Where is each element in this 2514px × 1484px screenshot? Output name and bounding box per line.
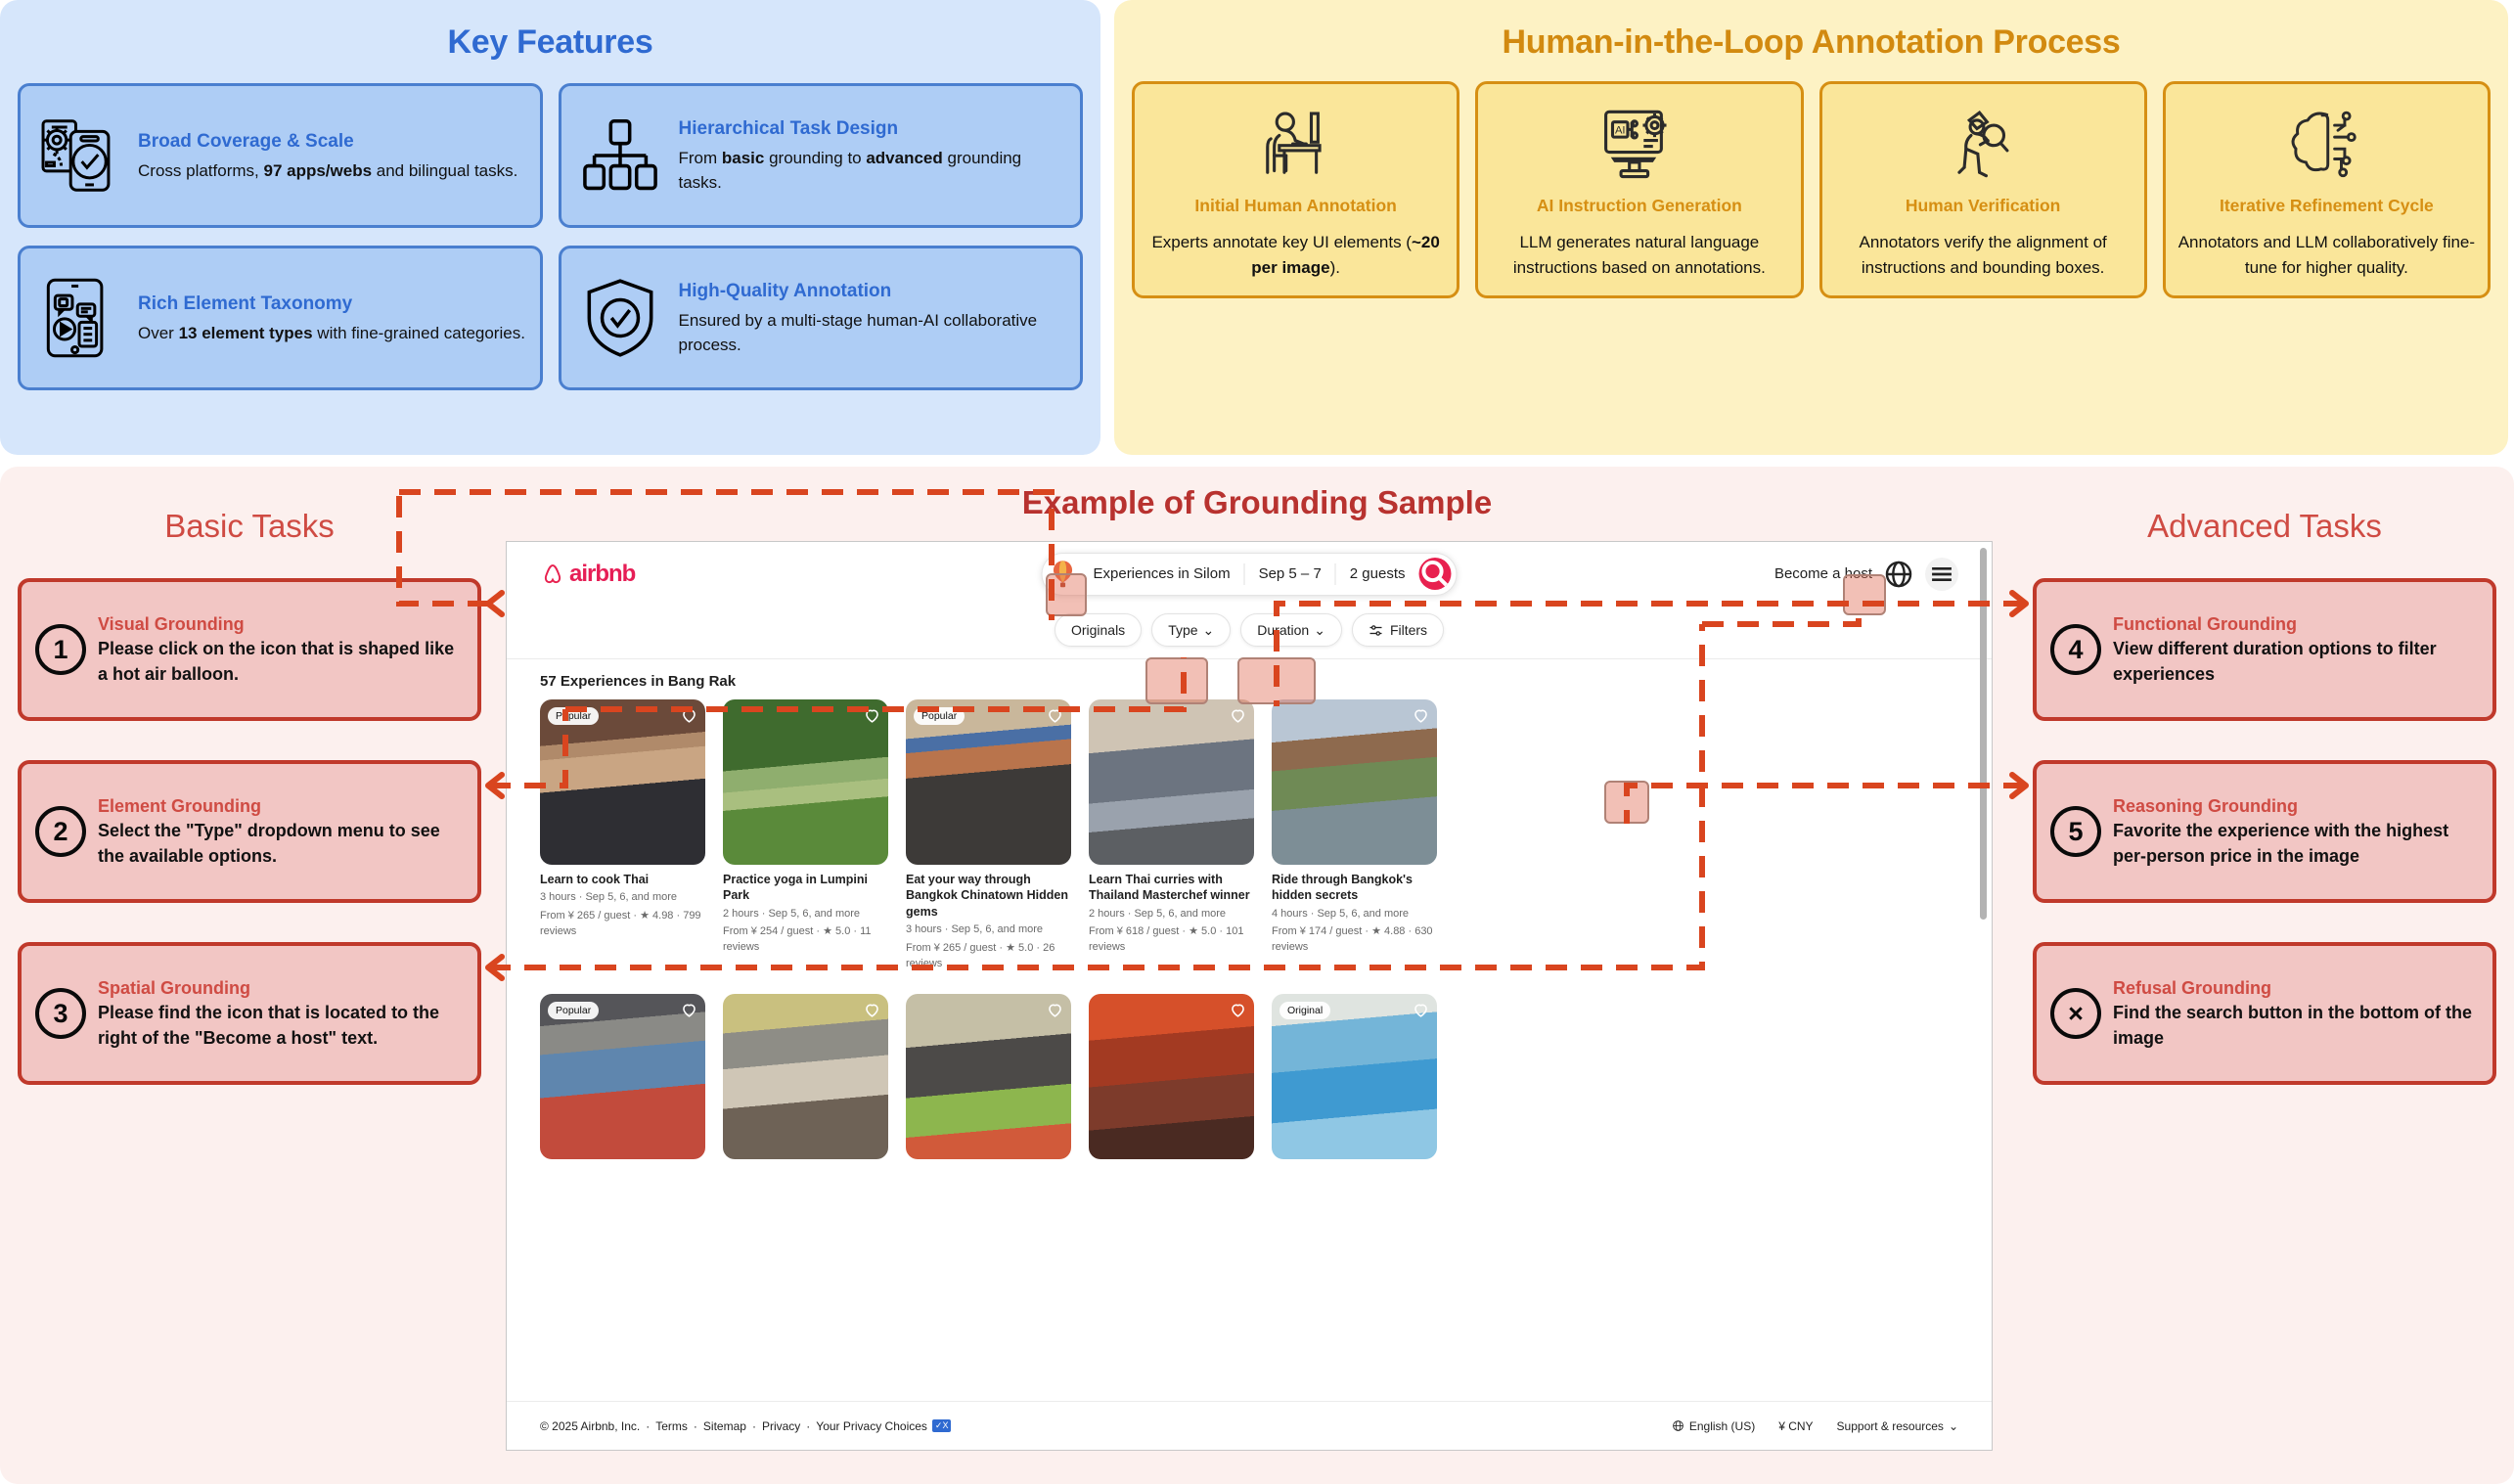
chip-label: Originals	[1071, 622, 1125, 638]
globe-icon	[1672, 1419, 1684, 1432]
footer-currency-selector[interactable]: ¥ CNY	[1778, 1419, 1813, 1433]
mobile-gear-check-icon	[34, 111, 124, 201]
feature-body-2: and bilingual tasks.	[372, 161, 517, 180]
task-card-refusal-grounding[interactable]: × Refusal Grounding Find the search butt…	[2033, 942, 2496, 1085]
feature-body-1: Cross platforms,	[138, 161, 263, 180]
listing-meta-1: 4 hours · Sep 5, 6, and more	[1272, 907, 1437, 922]
ai-monitor-gear-icon: AI	[1597, 100, 1682, 188]
chevron-down-icon: ⌄	[1949, 1419, 1958, 1433]
task-number-badge: 1	[35, 624, 86, 675]
listing-meta-1: 2 hours · Sep 5, 6, and more	[723, 907, 888, 922]
listing-meta-1: 3 hours · Sep 5, 6, and more	[906, 922, 1071, 938]
task-card-visual-grounding[interactable]: 1 Visual Grounding Please click on the i…	[18, 578, 481, 721]
listing-card[interactable]: Ride through Bangkok's hidden secrets 4 …	[1272, 699, 1437, 972]
task-number-badge: 5	[2050, 806, 2101, 857]
listing-meta-2: From ¥ 174 / guest · ★ 4.88 · 630 review…	[1272, 924, 1437, 956]
search-bar[interactable]: Experiences in Silom Sep 5 – 7 2 guests	[1042, 553, 1458, 596]
listing-photo[interactable]: Popular	[540, 699, 705, 865]
footer-copyright: © 2025 Airbnb, Inc.	[540, 1419, 640, 1433]
sliders-icon	[1369, 623, 1383, 638]
chip-originals[interactable]: Originals	[1055, 613, 1142, 647]
footer-language-selector[interactable]: English (US)	[1672, 1419, 1755, 1433]
feature-bold-1: basic	[722, 149, 764, 167]
footer-sep: ·	[806, 1419, 810, 1433]
heart-icon[interactable]	[863, 706, 881, 725]
airbnb-header: airbnb Experiences in Silom Sep 5 – 7 2 …	[507, 542, 1992, 606]
top-row: Key Features	[0, 0, 2514, 455]
listing-title: Practice yoga in Lumpini Park	[723, 872, 888, 904]
advanced-tasks-title: Advanced Tasks	[2015, 508, 2514, 545]
process-step-heading: AI Instruction Generation	[1537, 196, 1742, 216]
listing-meta-1: 3 hours · Sep 5, 6, and more	[540, 890, 705, 906]
footer-support-menu[interactable]: Support & resources ⌄	[1837, 1419, 1958, 1433]
footer-link-sitemap[interactable]: Sitemap	[703, 1419, 746, 1433]
listing-photo[interactable]: Original	[1272, 994, 1437, 1159]
heart-icon[interactable]	[1046, 1001, 1064, 1019]
footer-language-label: English (US)	[1689, 1419, 1755, 1433]
chip-filters[interactable]: Filters	[1352, 613, 1444, 647]
process-step-ai-instruction-generation: AI AI Instruction Generation LLM generat…	[1475, 81, 1803, 298]
feature-heading: Hierarchical Task Design	[679, 115, 1067, 144]
feature-card-text: Hierarchical Task Design From basic grou…	[679, 115, 1067, 196]
listing-title: Learn Thai curries with Thailand Masterc…	[1089, 872, 1254, 904]
heart-icon[interactable]	[680, 706, 698, 725]
listing-meta-2: From ¥ 265 / guest · ★ 5.0 · 26 reviews	[906, 941, 1071, 972]
feature-heading: High-Quality Annotation	[679, 278, 1067, 306]
task-heading: Spatial Grounding	[98, 976, 464, 1002]
person-magnifier-icon	[1941, 100, 2025, 188]
listing-row-2: Popular	[507, 994, 1992, 1159]
task-heading: Functional Grounding	[2113, 612, 2479, 638]
listing-meta-2: From ¥ 254 / guest · ★ 5.0 · 11 reviews	[723, 924, 888, 956]
feature-bold-1: 97 apps/webs	[263, 161, 372, 180]
listing-photo[interactable]	[1089, 994, 1254, 1159]
footer-support-label: Support & resources	[1837, 1419, 1944, 1433]
listing-card[interactable]: Popular Eat your way through Bangkok Chi…	[906, 699, 1071, 972]
task-body: Please click on the icon that is shaped …	[98, 639, 454, 684]
task-heading: Refusal Grounding	[2113, 976, 2479, 1002]
feature-bold-2: advanced	[866, 149, 942, 167]
heart-icon[interactable]	[863, 1001, 881, 1019]
ui-elements-icon	[34, 273, 124, 363]
process-step-body: Experts annotate key UI elements (~20 pe…	[1145, 230, 1447, 282]
listing-card[interactable]: Practice yoga in Lumpini Park 2 hours · …	[723, 699, 888, 972]
footer-right: English (US) ¥ CNY Support & resources ⌄	[1672, 1419, 1958, 1433]
process-step-body: Annotators and LLM collaboratively fine-…	[2176, 230, 2478, 282]
feature-body-2: with fine-grained categories.	[313, 324, 525, 342]
listing-badge: Popular	[548, 707, 599, 725]
listing-title: Ride through Bangkok's hidden secrets	[1272, 872, 1437, 904]
airbnb-logo-text: airbnb	[569, 561, 635, 588]
process-step-body: LLM generates natural language instructi…	[1488, 230, 1790, 282]
search-guests-field[interactable]: 2 guests	[1336, 565, 1419, 582]
listing-photo[interactable]	[723, 699, 888, 865]
process-step-initial-human-annotation: Initial Human Annotation Experts annotat…	[1132, 81, 1459, 298]
listing-card[interactable]	[906, 994, 1071, 1159]
listing-badge: Popular	[548, 1002, 599, 1019]
shield-check-icon	[575, 273, 665, 363]
highlight-globe-icon	[1843, 574, 1886, 615]
search-dates-field[interactable]: Sep 5 – 7	[1245, 565, 1335, 582]
highlight-duration-chip	[1237, 657, 1316, 704]
feature-card-high-quality: High-Quality Annotation Ensured by a mul…	[559, 246, 1084, 390]
task-card-text: Spatial Grounding Please find the icon t…	[98, 976, 464, 1052]
feature-body-1: Ensured by a multi-stage human-AI collab…	[679, 311, 1038, 355]
highlight-type-chip	[1145, 657, 1208, 704]
person-at-desk-icon	[1254, 100, 1338, 188]
svg-text:AI: AI	[1615, 125, 1626, 137]
task-heading: Reasoning Grounding	[2113, 794, 2479, 820]
basic-tasks-column: Basic Tasks 1 Visual Grounding Please cl…	[0, 508, 499, 545]
search-location-field[interactable]: Experiences in Silom	[1080, 565, 1244, 582]
process-step-human-verification: Human Verification Annotators verify the…	[1819, 81, 2147, 298]
hamburger-menu-icon[interactable]	[1925, 558, 1958, 591]
listing-meta-2: From ¥ 265 / guest · ★ 4.98 · 799 review…	[540, 909, 705, 940]
key-features-title: Key Features	[18, 23, 1083, 62]
process-step-iterative-refinement: Iterative Refinement Cycle Annotators an…	[2163, 81, 2491, 298]
airbnb-bel-icon	[540, 562, 565, 587]
magnifier-glyph	[1419, 558, 1452, 590]
listing-card[interactable]	[1089, 994, 1254, 1159]
task-body: Please find the icon that is located to …	[98, 1003, 439, 1048]
process-step-heading: Iterative Refinement Cycle	[2220, 196, 2434, 216]
search-icon[interactable]	[1419, 558, 1452, 590]
chip-label: Duration	[1257, 622, 1309, 638]
listing-photo[interactable]	[723, 994, 888, 1159]
feature-heading: Rich Element Taxonomy	[138, 291, 525, 319]
chevron-down-icon: ⌄	[1314, 622, 1325, 639]
listing-card[interactable]: Popular	[540, 994, 705, 1159]
task-heading: Element Grounding	[98, 794, 464, 820]
listing-meta-2: From ¥ 618 / guest · ★ 5.0 · 101 reviews	[1089, 924, 1254, 956]
feature-body-2: grounding to	[764, 149, 866, 167]
feature-card-text: Broad Coverage & Scale Cross platforms, …	[138, 128, 517, 183]
feature-card-text: High-Quality Annotation Ensured by a mul…	[679, 278, 1067, 358]
feature-body-1: From	[679, 149, 722, 167]
listing-meta-1: 2 hours · Sep 5, 6, and more	[1089, 907, 1254, 922]
listing-title: Learn to cook Thai	[540, 872, 705, 887]
listing-photo[interactable]	[1272, 699, 1437, 865]
listing-card[interactable]: Popular Learn to cook Thai 3 hours · Sep…	[540, 699, 705, 972]
task-card-element-grounding[interactable]: 2 Element Grounding Select the "Type" dr…	[18, 760, 481, 903]
task-body: View different duration options to filte…	[2113, 639, 2437, 684]
heart-icon[interactable]	[1412, 706, 1430, 725]
listing-badge: Popular	[914, 707, 965, 725]
listing-photo[interactable]	[1089, 699, 1254, 865]
annotation-process-grid: Initial Human Annotation Experts annotat…	[1132, 81, 2491, 298]
task-card-functional-grounding[interactable]: 4 Functional Grounding View different du…	[2033, 578, 2496, 721]
heart-icon[interactable]	[1046, 706, 1064, 725]
listing-title: Eat your way through Bangkok Chinatown H…	[906, 872, 1071, 920]
airbnb-footer: © 2025 Airbnb, Inc. · Terms · Sitemap · …	[507, 1401, 1992, 1450]
feature-card-text: Rich Element Taxonomy Over 13 element ty…	[138, 291, 525, 345]
annotation-process-title: Human-in-the-Loop Annotation Process	[1132, 23, 2491, 62]
hamburger-glyph	[1925, 558, 1958, 591]
task-body: Select the "Type" dropdown menu to see t…	[98, 821, 440, 866]
advanced-tasks-column: Advanced Tasks 4 Functional Grounding Vi…	[2015, 508, 2514, 545]
feature-body-1: Over	[138, 324, 179, 342]
listing-badge: Original	[1279, 1002, 1330, 1019]
feature-card-broad-coverage: Broad Coverage & Scale Cross platforms, …	[18, 83, 543, 228]
chip-duration[interactable]: Duration ⌄	[1240, 613, 1342, 647]
listing-card[interactable]	[723, 994, 888, 1159]
listing-photo[interactable]: Popular	[906, 699, 1071, 865]
task-heading: Visual Grounding	[98, 612, 464, 638]
footer-sep: ·	[752, 1419, 756, 1433]
listing-card[interactable]: Original	[1272, 994, 1437, 1159]
brain-circuit-icon	[2284, 100, 2368, 188]
process-body-2: ).	[1330, 258, 1340, 277]
globe-glyph	[1882, 558, 1915, 591]
process-step-heading: Human Verification	[1906, 196, 2061, 216]
task-number-badge: 3	[35, 988, 86, 1039]
process-step-heading: Initial Human Annotation	[1194, 196, 1396, 216]
highlight-balloon-icon	[1046, 573, 1087, 616]
highlight-heart-icon	[1604, 781, 1649, 824]
footer-link-terms[interactable]: Terms	[655, 1419, 688, 1433]
airbnb-logo[interactable]: airbnb	[540, 561, 635, 588]
hierarchy-tree-icon	[575, 111, 665, 201]
heart-icon[interactable]	[1412, 1001, 1430, 1019]
heart-icon[interactable]	[1229, 1001, 1247, 1019]
task-card-text: Functional Grounding View different dura…	[2113, 612, 2479, 688]
footer-link-privacy-choices[interactable]: Your Privacy Choices	[816, 1419, 927, 1433]
privacy-choices-badge: ✓X	[932, 1419, 952, 1432]
key-features-panel: Key Features	[0, 0, 1100, 455]
listing-photo[interactable]	[906, 994, 1071, 1159]
task-body: Favorite the experience with the highest…	[2113, 821, 2448, 866]
feature-heading: Broad Coverage & Scale	[138, 128, 517, 157]
task-card-text: Refusal Grounding Find the search button…	[2113, 976, 2479, 1052]
key-features-grid: Broad Coverage & Scale Cross platforms, …	[18, 83, 1083, 390]
feature-card-rich-taxonomy: Rich Element Taxonomy Over 13 element ty…	[18, 246, 543, 390]
task-card-reasoning-grounding[interactable]: 5 Reasoning Grounding Favorite the exper…	[2033, 760, 2496, 903]
chip-label: Type	[1168, 622, 1197, 638]
task-card-spatial-grounding[interactable]: 3 Spatial Grounding Please find the icon…	[18, 942, 481, 1085]
chip-label: Filters	[1390, 622, 1427, 638]
task-number-badge: 4	[2050, 624, 2101, 675]
footer-link-privacy[interactable]: Privacy	[762, 1419, 800, 1433]
heart-icon[interactable]	[680, 1001, 698, 1019]
task-card-text: Visual Grounding Please click on the ico…	[98, 612, 464, 688]
feature-bold-1: 13 element types	[179, 324, 313, 342]
listing-row-1: Popular Learn to cook Thai 3 hours · Sep…	[507, 699, 1992, 972]
task-card-text: Reasoning Grounding Favorite the experie…	[2113, 794, 2479, 870]
basic-tasks-title: Basic Tasks	[0, 508, 499, 545]
footer-sep: ·	[646, 1419, 650, 1433]
vertical-scrollbar[interactable]	[1980, 548, 1987, 920]
heart-icon[interactable]	[1229, 706, 1247, 725]
filter-chips-row: Originals Type ⌄ Duration ⌄ Filters	[507, 606, 1992, 658]
task-number-badge: ×	[2050, 988, 2101, 1039]
task-number-badge: 2	[35, 806, 86, 857]
annotation-process-panel: Human-in-the-Loop Annotation Process	[1114, 0, 2508, 455]
listing-photo[interactable]: Popular	[540, 994, 705, 1159]
listing-card[interactable]: Learn Thai curries with Thailand Masterc…	[1089, 699, 1254, 972]
task-body: Find the search button in the bottom of …	[2113, 1003, 2472, 1048]
footer-sep: ·	[694, 1419, 697, 1433]
process-body-1: Experts annotate key UI elements (	[1151, 233, 1412, 251]
feature-card-hierarchical-task: Hierarchical Task Design From basic grou…	[559, 83, 1084, 228]
chip-type[interactable]: Type ⌄	[1151, 613, 1231, 647]
process-step-body: Annotators verify the alignment of instr…	[1832, 230, 2134, 282]
globe-icon[interactable]	[1882, 558, 1915, 591]
task-card-text: Element Grounding Select the "Type" drop…	[98, 794, 464, 870]
chevron-down-icon: ⌄	[1203, 622, 1215, 639]
